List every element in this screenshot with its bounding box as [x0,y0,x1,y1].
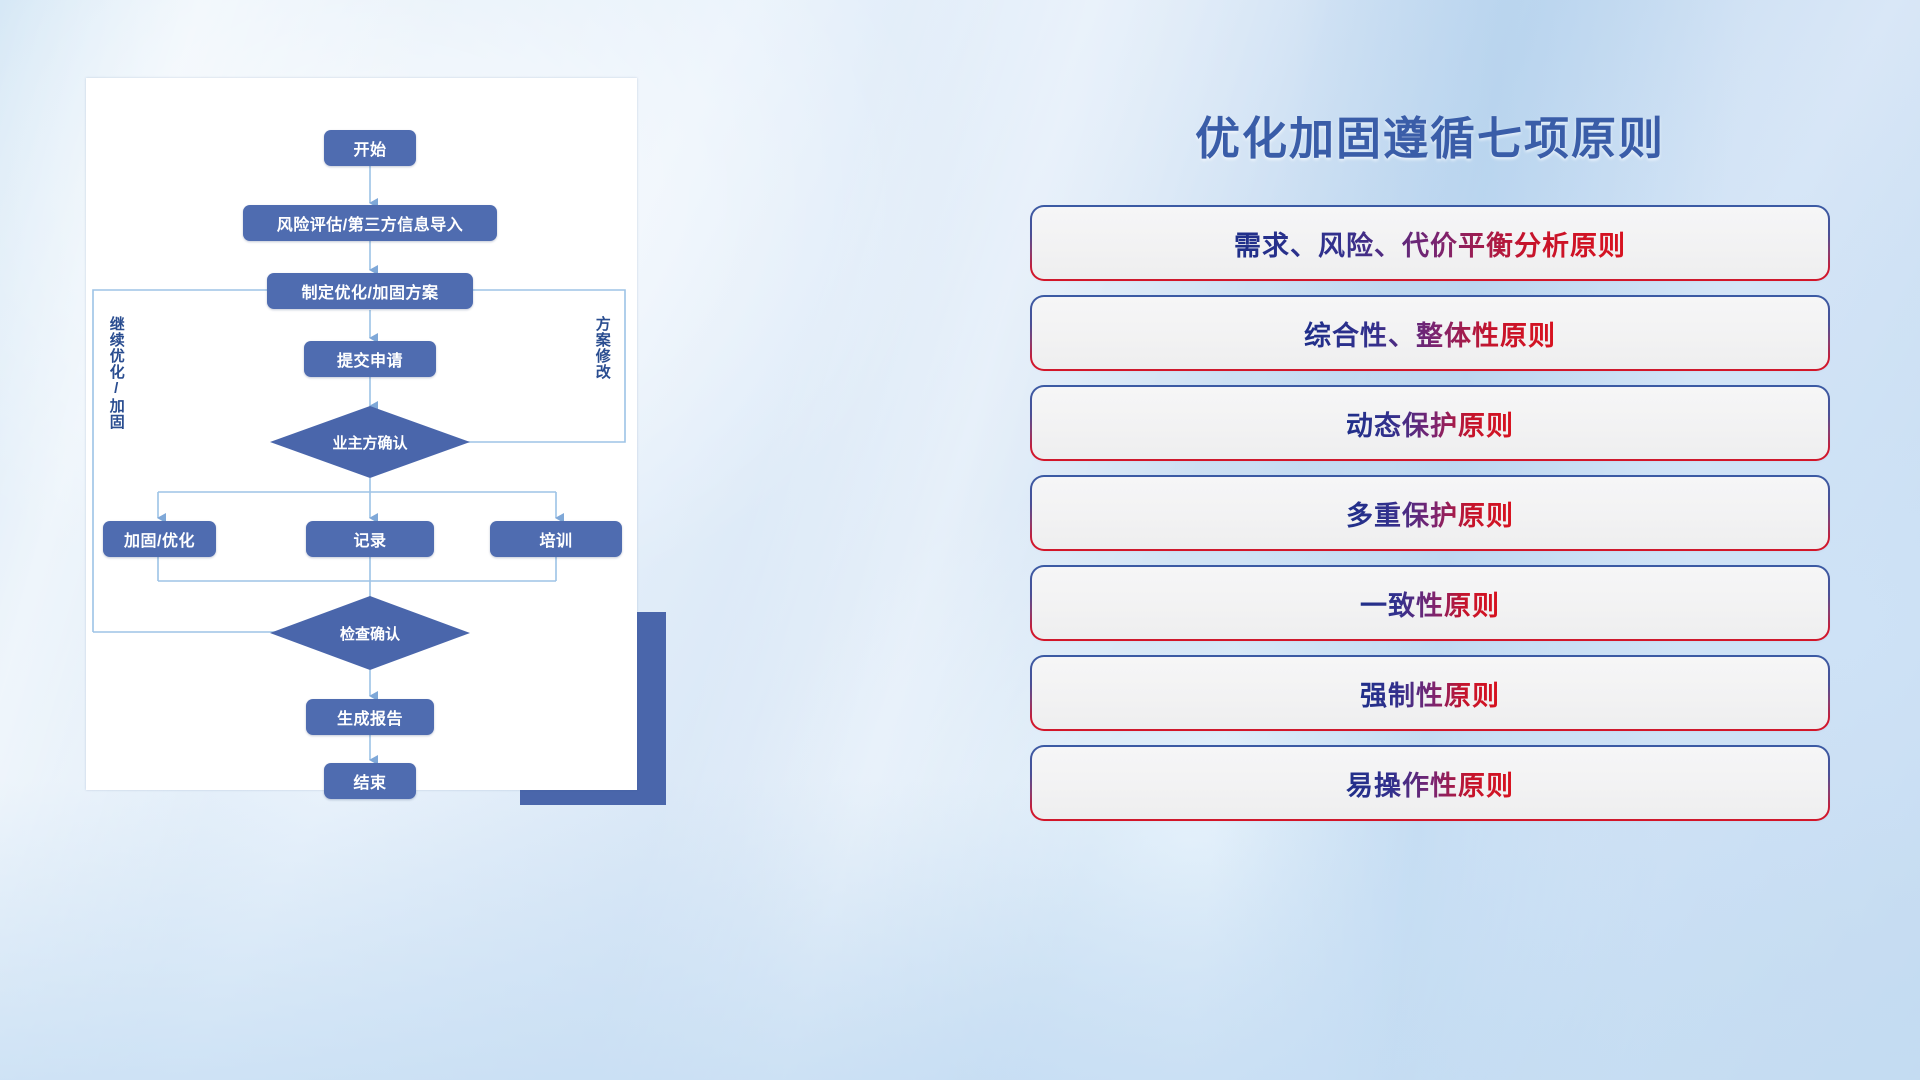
principle-label: 一致性原则 [1360,584,1500,623]
principle-item-4[interactable]: 多重保护原则 [1032,477,1828,549]
flowchart-card: 开始 风险评估/第三方信息导入 制定优化/加固方案 提交申请 业主方确认 加固/… [86,78,637,790]
principle-item-2[interactable]: 综合性、整体性原则 [1032,297,1828,369]
flow-decision-inspection-confirm[interactable]: 检查确认 [270,596,470,670]
flow-edge-label-continue-optimize: 继续优化/加固 [108,316,124,430]
flow-node-start[interactable]: 开始 [324,130,416,166]
principle-label: 易操作性原则 [1346,764,1514,803]
principle-label: 动态保护原则 [1346,404,1514,443]
flow-node-risk-assessment[interactable]: 风险评估/第三方信息导入 [243,205,497,241]
principle-label: 需求、风险、代价平衡分析原则 [1234,224,1626,263]
principle-item-1[interactable]: 需求、风险、代价平衡分析原则 [1032,207,1828,279]
principle-item-6[interactable]: 强制性原则 [1032,657,1828,729]
flow-node-generate-report[interactable]: 生成报告 [306,699,434,735]
principles-title: 优化加固遵循七项原则 [1020,102,1840,167]
principle-label: 多重保护原则 [1346,494,1514,533]
flow-node-record[interactable]: 记录 [306,521,434,557]
principle-item-7[interactable]: 易操作性原则 [1032,747,1828,819]
flow-edge-label-plan-revision: 方案修改 [594,316,610,380]
flow-node-end[interactable]: 结束 [324,763,416,799]
flowchart-canvas: 开始 风险评估/第三方信息导入 制定优化/加固方案 提交申请 业主方确认 加固/… [86,78,637,790]
flow-decision-owner-confirm-label: 业主方确认 [270,406,470,478]
principle-label: 强制性原则 [1360,674,1500,713]
principles-panel: 优化加固遵循七项原则 需求、风险、代价平衡分析原则 综合性、整体性原则 动态保护… [1020,60,1840,1020]
slide-canvas: 开始 风险评估/第三方信息导入 制定优化/加固方案 提交申请 业主方确认 加固/… [0,0,1920,1080]
flow-decision-owner-confirm[interactable]: 业主方确认 [270,406,470,478]
flow-node-reinforce-optimize[interactable]: 加固/优化 [103,521,216,557]
flow-node-submit-application[interactable]: 提交申请 [304,341,436,377]
flow-decision-inspection-confirm-label: 检查确认 [270,596,470,670]
principle-item-3[interactable]: 动态保护原则 [1032,387,1828,459]
flow-node-make-plan[interactable]: 制定优化/加固方案 [267,273,473,309]
flow-node-training[interactable]: 培训 [490,521,622,557]
principle-label: 综合性、整体性原则 [1304,314,1556,353]
principle-item-5[interactable]: 一致性原则 [1032,567,1828,639]
